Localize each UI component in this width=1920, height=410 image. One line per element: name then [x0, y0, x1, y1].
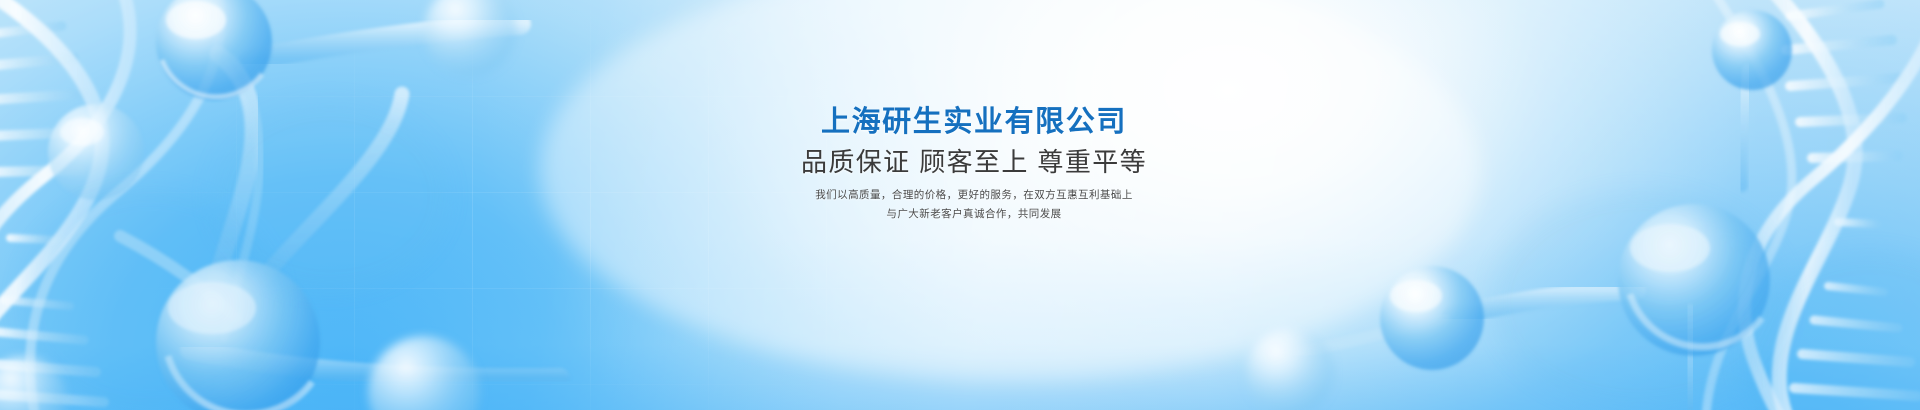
- molecule-sphere: [368, 336, 480, 410]
- molecule-sphere: [1712, 10, 1792, 90]
- company-slogan: 品质保证 顾客至上 尊重平等: [28, 145, 1920, 179]
- company-title: 上海研生实业有限公司: [28, 104, 1920, 140]
- description-line-2: 与广大新老客户真诚合作，共同发展: [28, 205, 1920, 224]
- description-line-1: 我们以高质量，合理的价格，更好的服务，在双方互惠互利基础上: [28, 186, 1920, 205]
- company-hero-banner: 上海研生实业有限公司 品质保证 顾客至上 尊重平等 我们以高质量，合理的价格，更…: [0, 0, 1920, 410]
- company-description: 我们以高质量，合理的价格，更好的服务，在双方互惠互利基础上 与广大新老客户真诚合…: [28, 186, 1920, 224]
- molecule-sphere: [424, 0, 516, 76]
- banner-text-block: 上海研生实业有限公司 品质保证 顾客至上 尊重平等 我们以高质量，合理的价格，更…: [0, 104, 1920, 224]
